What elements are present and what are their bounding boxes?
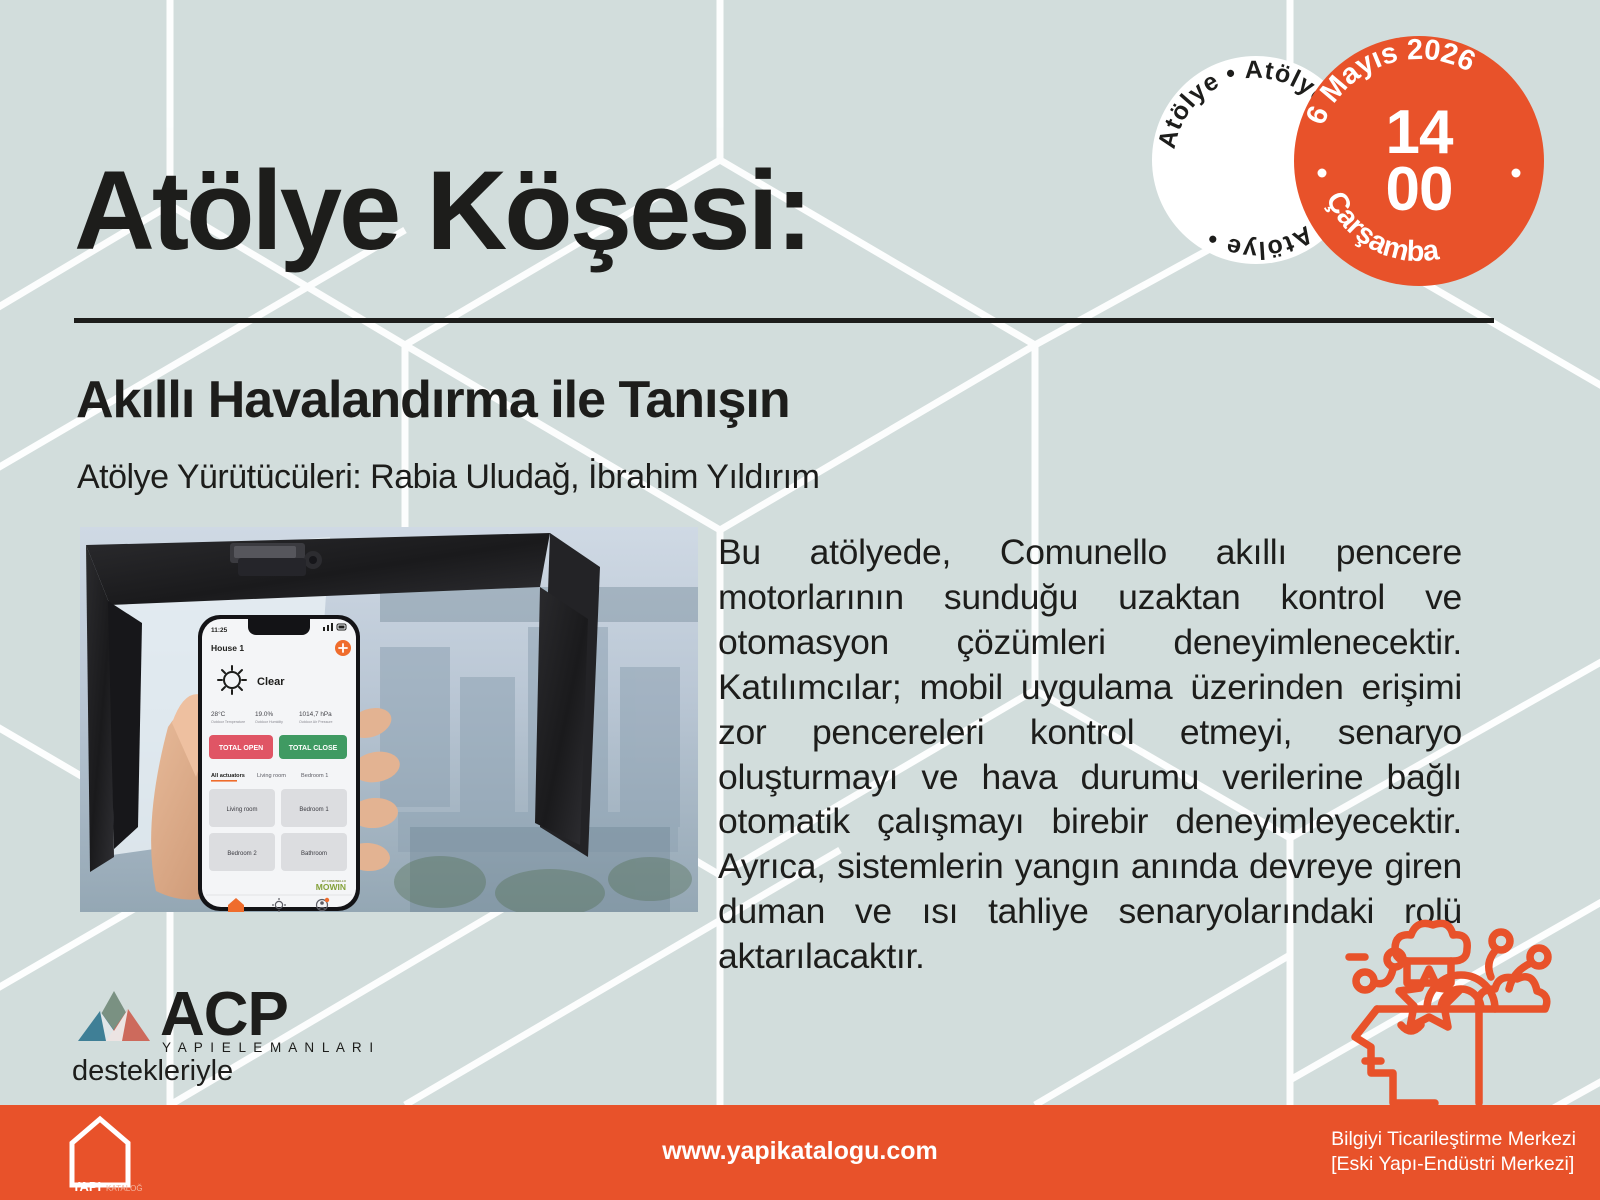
- acp-mountain-icon: [78, 991, 150, 1041]
- phone-metric-0-label: Outdoor Temperature: [211, 720, 245, 724]
- yapi-logo-sub: KATALOĞU: [106, 1184, 142, 1193]
- phone-metric-2-value: 1014,7 hPa: [299, 711, 332, 718]
- phone-total-open-label: TOTAL OPEN: [219, 745, 263, 752]
- poster-canvas: Atölye Köşesi: Akıllı Havalandırma ile T…: [0, 0, 1600, 1200]
- footer-venue-line1: Bilgiyi Ticarileştirme Merkezi: [1331, 1127, 1576, 1152]
- footer-venue-line2: [Eski Yapı-Endüstri Merkezi]: [1331, 1152, 1576, 1177]
- phone-tab-0[interactable]: All actuators: [211, 773, 245, 779]
- creative-head-icon: [1319, 913, 1564, 1108]
- phone-metric-2-label: Outdoor Air Pressure: [299, 720, 333, 724]
- badge-time: 14 00: [1294, 36, 1544, 286]
- phone-brand: MOWIN: [316, 882, 346, 892]
- phone-total-close-label: TOTAL CLOSE: [289, 745, 338, 752]
- phone-metric-1-label: Outdoor Humidity: [255, 720, 283, 724]
- sponsor-logo: ACP Y A P I E L E M A N L A R I: [76, 975, 396, 1062]
- photo-illustration: 11:25 House 1: [80, 527, 698, 912]
- page-title: Atölye Köşesi:: [74, 152, 810, 270]
- phone-tile-2-label: Bedroom 2: [227, 851, 257, 857]
- phone-tile-0-label: Living room: [226, 807, 257, 813]
- page-subtitle: Akıllı Havalandırma ile Tanışın: [76, 370, 790, 430]
- phone-tile-1-label: Bedroom 1: [299, 807, 329, 813]
- phone-tab-underline: [211, 780, 237, 782]
- acp-logo-tagline: Y A P I E L E M A N L A R I: [162, 1040, 375, 1055]
- workshop-photo: 11:25 House 1: [80, 527, 698, 912]
- phone-tab-1[interactable]: Living room: [257, 773, 286, 779]
- sponsor-support-text: destekleriyle: [72, 1055, 233, 1088]
- badge-hour: 14: [1386, 104, 1453, 161]
- body-paragraph: Bu atölyede, Comunello akıllı pencere mo…: [718, 530, 1462, 979]
- acp-logo-svg: ACP Y A P I E L E M A N L A R I: [76, 975, 396, 1057]
- phone-house-label: House 1: [211, 643, 244, 653]
- date-badge: Atölye • Atölye • Atölye • Atölye • 6 Ma…: [1152, 30, 1582, 290]
- phone-weather-label: Clear: [257, 676, 285, 688]
- presenters-line: Atölye Yürütücüleri: Rabia Uludağ, İbrah…: [77, 458, 819, 497]
- phone-tab-2[interactable]: Bedroom 1: [301, 773, 328, 779]
- phone-metric-0-value: 28°C: [211, 710, 226, 718]
- badge-minute: 00: [1386, 161, 1453, 218]
- phone-status-time: 11:25: [211, 627, 228, 634]
- phone-metric-1-value: 19.0%: [255, 711, 273, 718]
- acp-logo-wordmark: ACP: [160, 980, 288, 1049]
- footer-venue: Bilgiyi Ticarileştirme Merkezi [Eski Yap…: [1331, 1127, 1576, 1177]
- footer-bar: YAPI KATALOĞU www.yapikatalogu.com Bilgi…: [0, 1105, 1600, 1200]
- phone-tile-3-label: Bathroom: [301, 851, 327, 857]
- yapi-logo-text: YAPI: [72, 1179, 101, 1193]
- title-divider: [74, 318, 1494, 323]
